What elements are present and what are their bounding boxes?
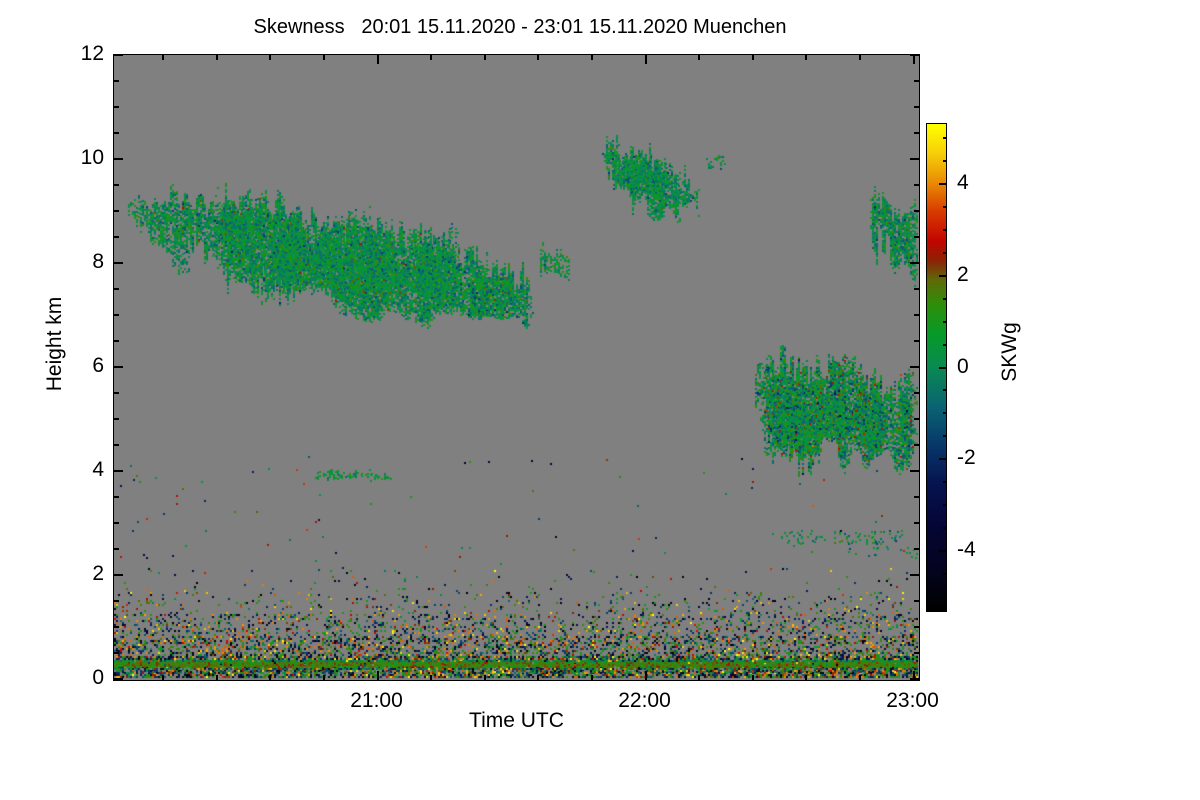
colorbar-tick-major	[939, 275, 947, 277]
y-axis-tick-minor	[914, 210, 919, 212]
colorbar-tick-minor	[943, 252, 947, 254]
y-axis-title: Height km	[43, 244, 67, 444]
x-axis-tick-minor	[698, 55, 700, 60]
x-axis-tick-minor	[698, 675, 700, 680]
x-axis-tick-minor	[537, 55, 539, 60]
y-axis-tick-label: 0	[92, 666, 104, 690]
plot-axes-area	[113, 54, 920, 681]
colorbar-tick-major	[939, 183, 947, 185]
colorbar-title: SKWg	[998, 262, 1022, 442]
colorbar-tick-minor	[943, 412, 947, 414]
y-axis-tick-major	[114, 262, 123, 264]
y-axis-tick-major	[910, 158, 919, 160]
y-axis-tick-major	[114, 470, 123, 472]
y-axis-tick-minor	[914, 652, 919, 654]
x-axis-tick-minor	[269, 675, 271, 680]
y-axis-tick-minor	[914, 80, 919, 82]
y-axis-tick-major	[114, 574, 123, 576]
y-axis-tick-minor	[114, 600, 119, 602]
colorbar-tick-minor	[943, 504, 947, 506]
y-axis-tick-minor	[914, 522, 919, 524]
y-axis-tick-minor	[914, 340, 919, 342]
colorbar-tick-major	[939, 367, 947, 369]
colorbar-tick-minor	[943, 527, 947, 529]
y-axis-tick-label: 8	[92, 250, 104, 274]
colorbar-tick-label: -2	[957, 446, 976, 470]
y-axis-tick-minor	[114, 340, 119, 342]
y-axis-tick-minor	[114, 496, 119, 498]
colorbar-tick-minor	[943, 229, 947, 231]
colorbar-tick-minor	[943, 206, 947, 208]
y-axis-tick-major	[910, 262, 919, 264]
x-axis-tick-minor	[752, 675, 754, 680]
colorbar-tick-label: 2	[957, 263, 969, 287]
y-axis-tick-minor	[114, 548, 119, 550]
colorbar-tick-minor	[943, 321, 947, 323]
y-axis-tick-minor	[114, 418, 119, 420]
figure-canvas: Skewness 20:01 15.11.2020 - 23:01 15.11.…	[0, 0, 1200, 800]
x-axis-tick-major	[913, 55, 915, 64]
y-axis-tick-major	[114, 158, 123, 160]
y-axis-tick-minor	[914, 132, 919, 134]
x-axis-tick-minor	[269, 55, 271, 60]
colorbar-tick-minor	[943, 160, 947, 162]
y-axis-tick-minor	[914, 626, 919, 628]
y-axis-tick-minor	[914, 548, 919, 550]
y-axis-tick-minor	[914, 600, 919, 602]
y-axis-tick-minor	[114, 522, 119, 524]
y-axis-tick-label: 6	[92, 354, 104, 378]
y-axis-tick-major	[910, 470, 919, 472]
y-axis-tick-label: 2	[92, 562, 104, 586]
x-axis-tick-minor	[430, 675, 432, 680]
x-axis-tick-minor	[430, 55, 432, 60]
x-axis-tick-minor	[484, 675, 486, 680]
colorbar-tick-major	[939, 550, 947, 552]
y-axis-tick-minor	[114, 184, 119, 186]
y-axis-tick-minor	[114, 80, 119, 82]
colorbar-tick-minor	[943, 344, 947, 346]
colorbar-tick-label: 0	[957, 355, 969, 379]
y-axis-tick-minor	[114, 652, 119, 654]
x-axis-tick-major	[645, 55, 647, 64]
y-axis-tick-minor	[114, 314, 119, 316]
x-axis-tick-minor	[162, 55, 164, 60]
x-axis-tick-minor	[805, 55, 807, 60]
y-axis-tick-minor	[114, 236, 119, 238]
x-axis-tick-minor	[859, 675, 861, 680]
x-axis-tick-minor	[162, 675, 164, 680]
y-axis-tick-minor	[114, 392, 119, 394]
colorbar-tick-minor	[943, 389, 947, 391]
y-axis-tick-label: 12	[81, 42, 104, 66]
colorbar-tick-minor	[943, 481, 947, 483]
x-axis-tick-minor	[323, 675, 325, 680]
y-axis-tick-minor	[914, 106, 919, 108]
y-axis-tick-major	[910, 366, 919, 368]
y-axis-tick-minor	[114, 444, 119, 446]
x-axis-tick-minor	[591, 55, 593, 60]
y-axis-tick-minor	[914, 392, 919, 394]
x-axis-tick-minor	[805, 675, 807, 680]
colorbar-tick-minor	[943, 573, 947, 575]
x-axis-tick-major	[645, 671, 647, 680]
colorbar-tick-minor	[943, 137, 947, 139]
y-axis-tick-minor	[914, 288, 919, 290]
x-axis-tick-minor	[752, 55, 754, 60]
y-axis-tick-major	[114, 678, 123, 680]
y-axis-tick-major	[910, 574, 919, 576]
y-axis-tick-minor	[914, 314, 919, 316]
heatmap-canvas	[114, 55, 918, 679]
x-axis-tick-minor	[537, 675, 539, 680]
x-axis-tick-major	[377, 671, 379, 680]
y-axis-tick-minor	[114, 106, 119, 108]
y-axis-tick-major	[114, 54, 123, 56]
colorbar-tick-label: 4	[957, 171, 969, 195]
colorbar-tick-major	[939, 458, 947, 460]
y-axis-tick-major	[114, 366, 123, 368]
page-title: Skewness 20:01 15.11.2020 - 23:01 15.11.…	[0, 16, 1040, 39]
x-axis-tick-minor	[591, 675, 593, 680]
x-axis-tick-major	[377, 55, 379, 64]
y-axis-tick-minor	[914, 496, 919, 498]
y-axis-tick-label: 10	[81, 146, 104, 170]
colorbar-tick-labels: -4-2024	[952, 123, 992, 612]
colorbar	[926, 123, 947, 612]
colorbar-tick-minor	[943, 596, 947, 598]
y-axis-tick-minor	[114, 288, 119, 290]
y-axis-tick-minor	[914, 184, 919, 186]
x-axis-tick-minor	[216, 55, 218, 60]
x-axis-tick-minor	[859, 55, 861, 60]
y-axis-tick-minor	[914, 418, 919, 420]
colorbar-tick-minor	[943, 435, 947, 437]
x-axis-tick-major	[913, 671, 915, 680]
y-axis-tick-minor	[114, 626, 119, 628]
y-axis-tick-minor	[914, 444, 919, 446]
y-axis-tick-minor	[114, 132, 119, 134]
colorbar-tick-label: -4	[957, 538, 976, 562]
colorbar-tick-minor	[943, 298, 947, 300]
x-axis-tick-minor	[323, 55, 325, 60]
y-axis-tick-label: 4	[92, 458, 104, 482]
x-axis-title: Time UTC	[113, 709, 920, 733]
y-axis-tick-minor	[114, 210, 119, 212]
y-axis-tick-minor	[914, 236, 919, 238]
x-axis-tick-minor	[484, 55, 486, 60]
x-axis-tick-minor	[216, 675, 218, 680]
